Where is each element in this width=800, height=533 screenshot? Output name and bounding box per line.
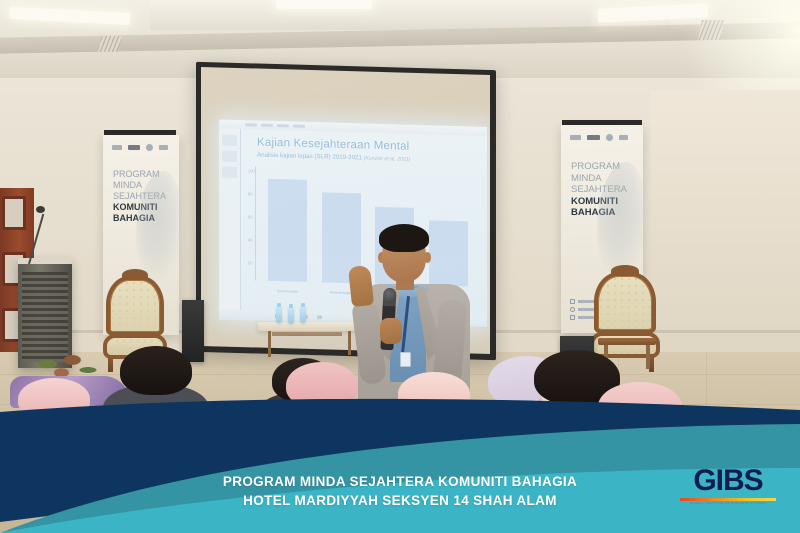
front-table — [258, 322, 360, 331]
audience-member — [120, 346, 192, 420]
slide-subtitle: Analisis kajian lepas (SLR) 2019-2021 (K… — [257, 152, 410, 163]
table-leg — [268, 331, 271, 357]
slide-subtitle-text: Analisis kajian lepas (SLR) 2019-2021 — [257, 152, 364, 162]
presenter-hand-holding-mic — [380, 318, 402, 344]
chair-back — [594, 272, 656, 334]
audience-head — [120, 346, 192, 395]
right-wall — [650, 90, 800, 390]
partner-logo-icon — [619, 135, 628, 140]
table-leg — [348, 331, 351, 355]
gibs-logo-tagline: GLOBAL INSTITUTE OF BUSINESS STUDIES — [680, 502, 776, 505]
university-logo-icon — [606, 134, 613, 141]
slide-thumbnail-pane — [219, 128, 241, 310]
ceiling-air-vent — [98, 36, 121, 52]
clock-icon — [570, 307, 575, 312]
gibs-logo-underline — [680, 498, 776, 501]
ministry-logo-icon — [112, 145, 122, 150]
table-leg — [646, 345, 650, 369]
audience-hijab — [286, 362, 358, 408]
location-icon — [570, 315, 575, 320]
presenter-name-badge — [400, 352, 411, 367]
wall-picture-frame — [2, 196, 26, 230]
audience-member — [690, 392, 780, 462]
footer-caption-line-1: PROGRAM MINDA SEJAHTERA KOMUNITI BAHAGIA — [223, 474, 577, 489]
audience-member-hijab — [398, 372, 470, 438]
chair-leg — [108, 357, 113, 372]
presenter-raised-hand — [348, 265, 374, 307]
banner-logo-row-right — [570, 134, 635, 141]
ministry-logo-icon — [570, 135, 581, 140]
audience-hijab — [398, 372, 470, 416]
calendar-icon — [570, 299, 575, 304]
partner-logo-icon — [159, 145, 168, 150]
audience-member-hijab — [286, 362, 358, 432]
slide-citation: (Kunzler et al, 2021) — [364, 155, 411, 162]
slide-title: Kajian Kesejahteraan Mental — [257, 137, 409, 153]
water-bottle — [300, 306, 306, 323]
laptop-table — [272, 332, 342, 336]
gibs-wordmark: GIBS — [680, 466, 776, 496]
ceiling-light-panel — [276, 0, 372, 9]
chart-y-tick: 80 — [248, 191, 252, 196]
event-photo-screenshot: Kajian Kesejahteraan Mental Analisis kaj… — [0, 0, 800, 533]
podium-microphone-icon — [36, 206, 45, 213]
university-logo-icon — [146, 144, 153, 151]
chart-y-tick: 60 — [248, 214, 252, 219]
audience-hijab — [18, 378, 90, 420]
chart-y-tick: 20 — [248, 260, 252, 265]
chart-y-tick: 40 — [248, 237, 252, 242]
presenter-hair — [379, 224, 429, 252]
audience-hijab — [598, 382, 682, 431]
water-bottle — [288, 307, 294, 324]
audience-member-hijab — [18, 378, 90, 442]
gibs-logo: GIBS GLOBAL INSTITUTE OF BUSINESS STUDIE… — [680, 466, 776, 505]
banner-logo-row-left — [112, 144, 171, 151]
chart-bar — [268, 179, 307, 282]
gibs-logo-icon — [128, 145, 140, 150]
gibs-logo-icon — [587, 135, 600, 140]
water-bottle — [276, 306, 282, 323]
chart-y-axis — [255, 166, 256, 280]
slide-app-ribbon — [219, 119, 487, 135]
chart-x-label: Kemurungan — [268, 289, 307, 294]
chart-y-tick: 100 — [248, 168, 255, 173]
side-table-right — [598, 338, 656, 345]
chair-back — [106, 276, 164, 336]
